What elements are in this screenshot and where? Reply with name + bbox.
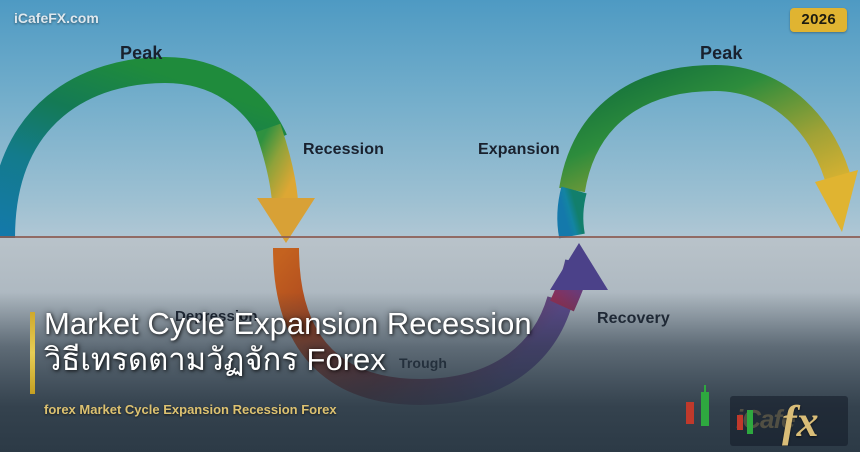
candle-up-icon — [701, 392, 709, 426]
site-watermark: iCafeFX.com — [14, 10, 99, 26]
label-peak-right: Peak — [700, 43, 742, 64]
candlestick-icon — [686, 390, 720, 432]
brand-logo[interactable]: iCafe fx — [730, 396, 848, 446]
logo-candlestick-icon — [737, 410, 757, 434]
year-badge: 2026 — [790, 8, 847, 32]
logo-candle-down-icon — [737, 415, 743, 430]
left-peak-arc — [2, 70, 275, 238]
right-descend-arrowhead — [815, 170, 858, 232]
title-block: Market Cycle Expansion Recession วิธีเทร… — [44, 306, 644, 378]
screenshot-root: Peak Peak Recession Expansion Depression… — [0, 0, 860, 452]
title-accent-bar — [30, 312, 35, 394]
expansion-riser — [570, 190, 574, 236]
label-peak-left: Peak — [120, 43, 162, 64]
recovery-arrowhead — [550, 243, 608, 290]
logo-candle-up-icon — [747, 410, 753, 434]
candle-down-icon — [686, 402, 694, 424]
horizon-line — [0, 236, 860, 238]
subtitle-keywords: forex Market Cycle Expansion Recession F… — [44, 402, 337, 417]
logo-fx-mark: fx — [782, 396, 819, 446]
label-recession: Recession — [303, 141, 384, 159]
right-peak-arc — [572, 78, 840, 190]
label-expansion: Expansion — [478, 141, 560, 159]
title-line-thai: วิธีเทรดตามวัฏจักร Forex — [44, 342, 644, 378]
title-line-english: Market Cycle Expansion Recession — [44, 306, 644, 342]
